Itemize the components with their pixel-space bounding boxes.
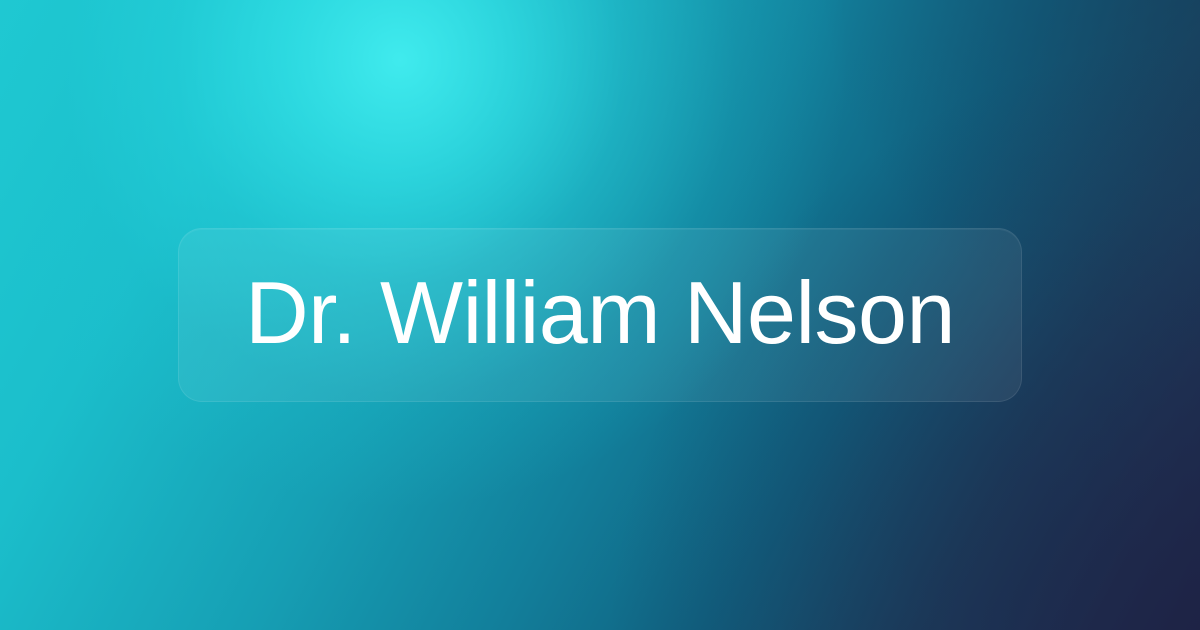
hero-banner: Dr. William Nelson (0, 0, 1200, 630)
page-title: Dr. William Nelson (245, 269, 955, 361)
name-card: Dr. William Nelson (178, 228, 1022, 402)
